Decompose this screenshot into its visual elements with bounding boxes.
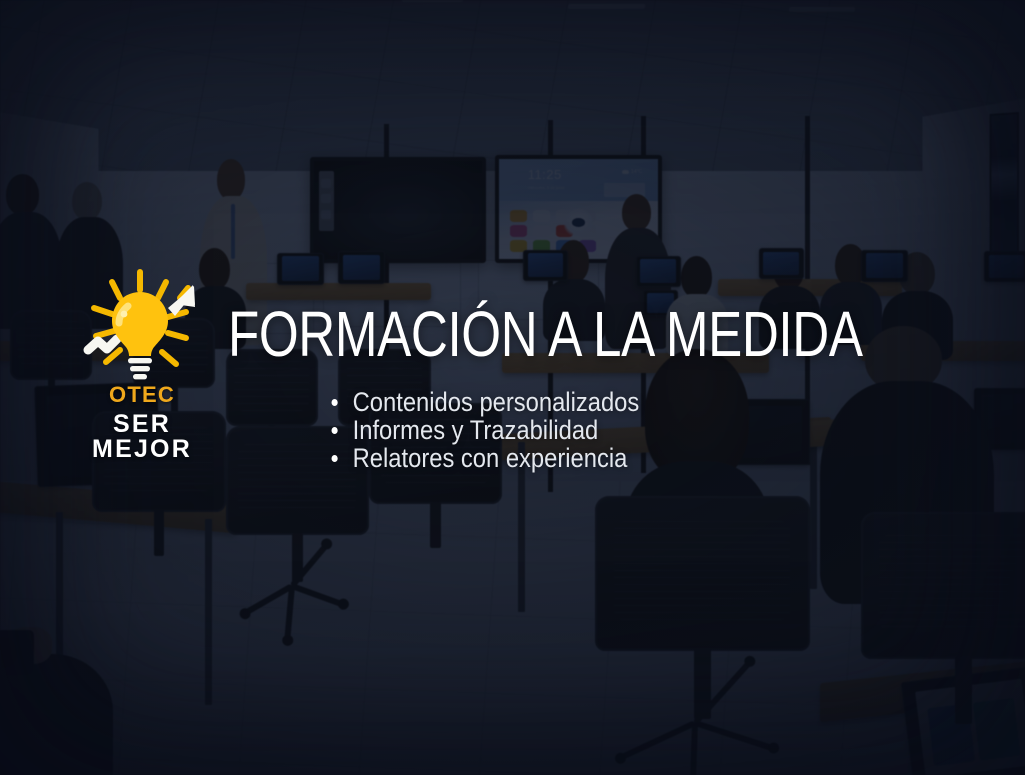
- list-item-label: Informes y Trazabilidad: [353, 415, 599, 445]
- page-title: FORMACIÓN A LA MEDIDA: [228, 302, 863, 366]
- bullet-icon: [332, 399, 338, 406]
- bullet-icon: [332, 455, 338, 462]
- list-item-label: Contenidos personalizados: [353, 387, 640, 417]
- list-item-label: Relatores con experiencia: [353, 443, 628, 473]
- promo-banner: 11:25 miércoles, 5 de junio 14°C: [0, 0, 1025, 775]
- bullet-icon: [332, 427, 338, 434]
- lightbulb-idea-icon: [62, 268, 222, 388]
- list-item: Informes y Trazabilidad: [328, 416, 639, 444]
- logo-name-label: SER MEJOR: [62, 412, 222, 462]
- list-item: Relatores con experiencia: [328, 444, 639, 472]
- bulb-glint: [121, 311, 128, 318]
- content-layer: OTEC SER MEJOR FORMACIÓN A LA MEDIDA Con…: [0, 0, 1025, 775]
- brand-logo[interactable]: OTEC SER MEJOR: [62, 268, 222, 462]
- zigzag-icon: [88, 339, 117, 350]
- list-item: Contenidos personalizados: [328, 388, 639, 416]
- feature-list: Contenidos personalizados Informes y Tra…: [328, 388, 682, 472]
- bulb-base: [128, 358, 152, 379]
